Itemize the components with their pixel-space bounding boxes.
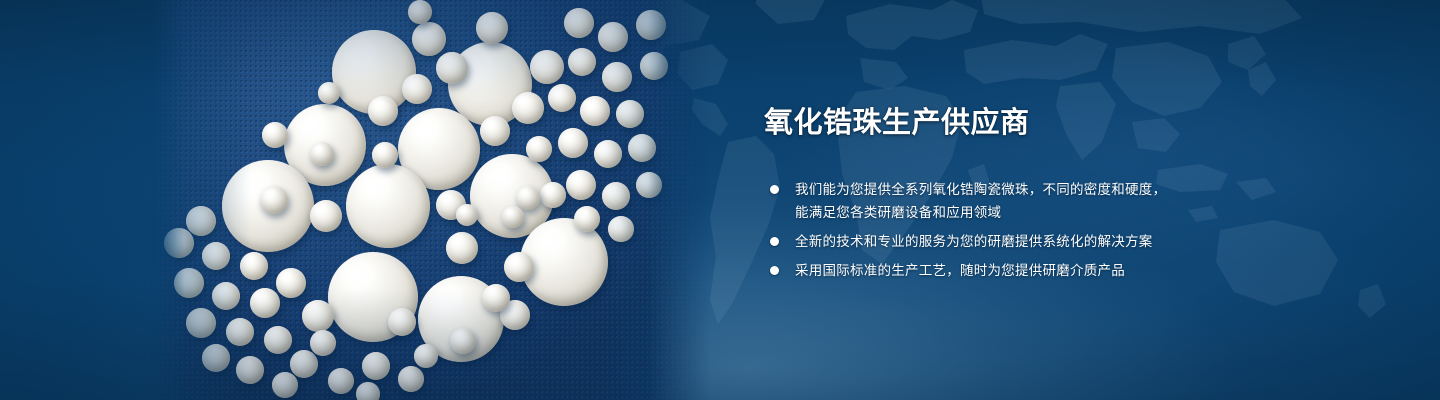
feature-list: 我们能为您提供全系列氧化锆陶瓷微珠，不同的密度和硬度， 能满足您各类研磨设备和应… — [764, 178, 1284, 282]
hero-banner: 氧化锆珠生产供应商 我们能为您提供全系列氧化锆陶瓷微珠，不同的密度和硬度， 能满… — [0, 0, 1440, 400]
banner-headline: 氧化锆珠生产供应商 — [764, 106, 1284, 140]
feature-text-line: 我们能为您提供全系列氧化锆陶瓷微珠，不同的密度和硬度， — [795, 178, 1284, 201]
feature-list-item: 全新的技术和专业的服务为您的研磨提供系统化的解决方案 — [764, 230, 1284, 253]
dot-bullet-icon — [770, 185, 779, 194]
dot-bullet-icon — [770, 237, 779, 246]
feature-text-line: 全新的技术和专业的服务为您的研磨提供系统化的解决方案 — [795, 230, 1284, 253]
feature-list-item: 我们能为您提供全系列氧化锆陶瓷微珠，不同的密度和硬度， 能满足您各类研磨设备和应… — [764, 178, 1284, 224]
dot-bullet-icon — [770, 266, 779, 275]
banner-content: 氧化锆珠生产供应商 我们能为您提供全系列氧化锆陶瓷微珠，不同的密度和硬度， 能满… — [764, 106, 1284, 282]
feature-text-line: 采用国际标准的生产工艺，随时为您提供研磨介质产品 — [795, 259, 1284, 282]
feature-text-line: 能满足您各类研磨设备和应用领域 — [795, 201, 1284, 224]
feature-list-item: 采用国际标准的生产工艺，随时为您提供研磨介质产品 — [764, 259, 1284, 282]
